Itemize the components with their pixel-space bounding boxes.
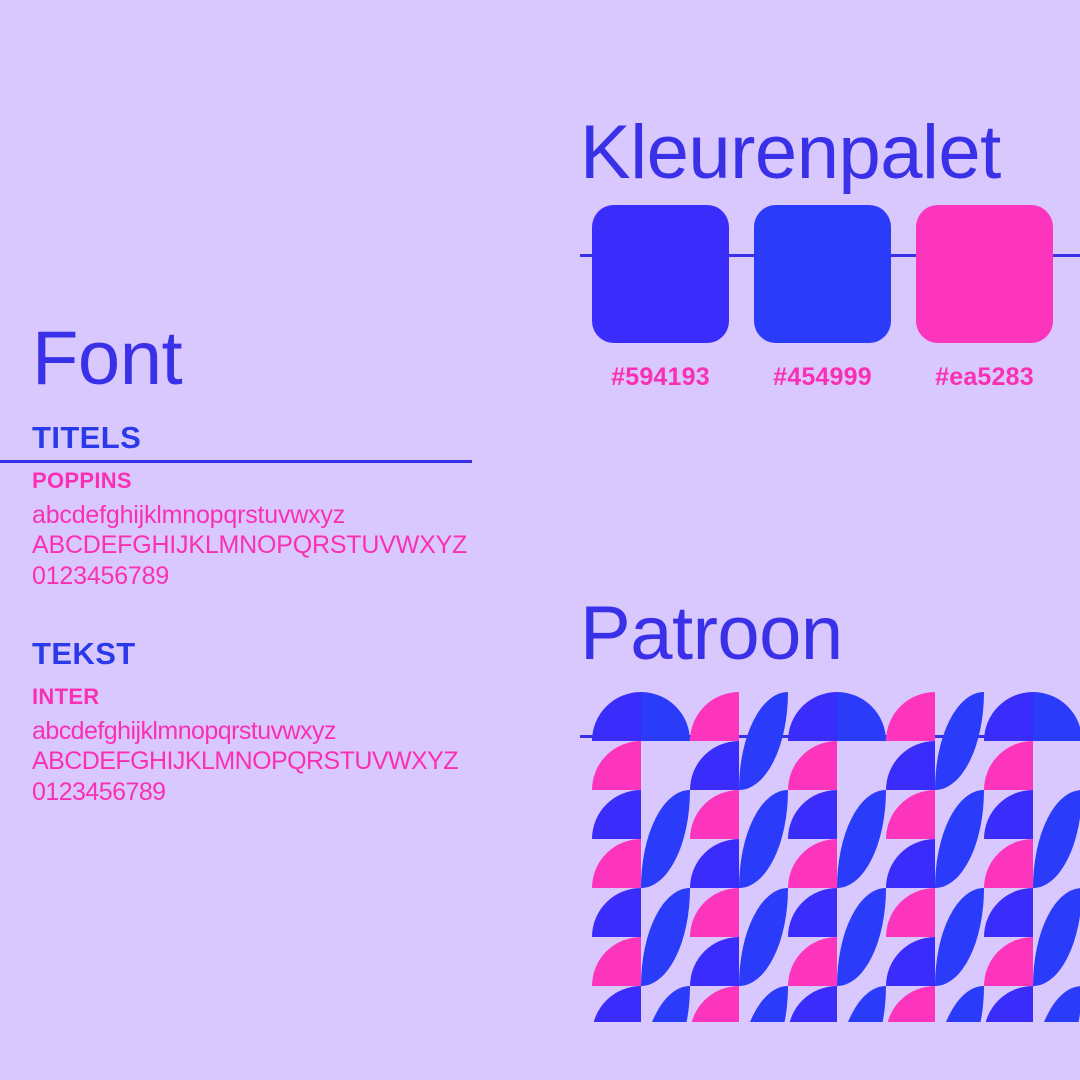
pattern-leaf (739, 790, 788, 888)
pattern-quarter-circle (788, 937, 837, 986)
specimen-lowercase: abcdefghijklmnopqrstuvwxyz (32, 716, 492, 747)
pattern-quarter-circle (984, 888, 1033, 937)
pattern-quarter-circle (1033, 692, 1080, 741)
pattern-grid (592, 692, 1080, 1022)
pattern-leaf (1033, 888, 1080, 986)
pattern-leaf (739, 986, 788, 1022)
pattern-leaf (935, 790, 984, 888)
color-swatch-item[interactable]: #ea5283 (916, 205, 1053, 392)
pattern-quarter-circle (886, 741, 935, 790)
type-font-name: POPPINS (32, 469, 492, 492)
color-swatch-item[interactable]: #454999 (754, 205, 891, 392)
pattern-leaf (837, 986, 886, 1022)
pattern-quarter-circle (886, 839, 935, 888)
font-section-heading: Font (32, 321, 472, 397)
pattern-quarter-circle (984, 741, 1033, 790)
pattern-leaf (641, 986, 690, 1022)
style-guide-canvas: Font TITELS POPPINS abcdefghijklmnopqrst… (0, 0, 1080, 1080)
pattern-quarter-circle (592, 692, 641, 741)
pattern-leaf (935, 692, 984, 790)
pattern-leaf (1033, 790, 1080, 888)
color-swatch-chip[interactable] (754, 205, 891, 343)
pattern-quarter-circle (592, 986, 641, 1022)
color-swatch-hex-label: #ea5283 (916, 363, 1053, 392)
type-block-titels: TITELS POPPINS abcdefghijklmnopqrstuvwxy… (32, 422, 492, 591)
specimen-digits: 0123456789 (32, 777, 492, 808)
pattern-quarter-circle (984, 692, 1033, 741)
pattern-leaf (739, 692, 788, 790)
pattern-leaf (935, 888, 984, 986)
pattern-leaf (1033, 986, 1080, 1022)
pattern-section-heading: Patroon (580, 596, 1080, 672)
pattern-leaf (837, 790, 886, 888)
pattern-quarter-circle (788, 790, 837, 839)
pattern-quarter-circle (837, 692, 886, 741)
pattern-quarter-circle (886, 937, 935, 986)
pattern-leaf (935, 986, 984, 1022)
color-swatch-chip[interactable] (592, 205, 729, 343)
color-swatch-row: #594193 #454999 #ea5283 (592, 205, 1053, 392)
pattern-quarter-circle (592, 839, 641, 888)
specimen-lowercase: abcdefghijklmnopqrstuvwxyz (32, 500, 492, 531)
color-swatch-chip[interactable] (916, 205, 1053, 343)
specimen-uppercase: ABCDEFGHIJKLMNOPQRSTUVWXYZ (32, 530, 492, 561)
type-font-name: INTER (32, 685, 492, 708)
color-swatch-hex-label: #454999 (754, 363, 891, 392)
pattern-quarter-circle (984, 790, 1033, 839)
pattern-leaf (641, 888, 690, 986)
pattern-quarter-circle (690, 741, 739, 790)
pattern-leaf (837, 888, 886, 986)
pattern-quarter-circle (690, 839, 739, 888)
pattern-quarter-circle (886, 888, 935, 937)
pattern-quarter-circle (641, 692, 690, 741)
pattern-quarter-circle (886, 692, 935, 741)
pattern-quarter-circle (788, 986, 837, 1022)
pattern-leaf (739, 888, 788, 986)
pattern-quarter-circle (592, 888, 641, 937)
color-swatch-item[interactable]: #594193 (592, 205, 729, 392)
pattern-quarter-circle (788, 741, 837, 790)
pattern-quarter-circle (788, 888, 837, 937)
pattern-quarter-circle (886, 790, 935, 839)
palette-section-heading: Kleurenpalet (580, 115, 1080, 191)
pattern-quarter-circle (592, 790, 641, 839)
specimen-digits: 0123456789 (32, 561, 492, 592)
pattern-quarter-circle (788, 692, 837, 741)
specimen-uppercase: ABCDEFGHIJKLMNOPQRSTUVWXYZ (32, 746, 492, 777)
pattern-quarter-circle (886, 986, 935, 1022)
pattern-quarter-circle (592, 937, 641, 986)
color-swatch-hex-label: #594193 (592, 363, 729, 392)
pattern-quarter-circle (984, 937, 1033, 986)
type-category-label: TEKST (32, 638, 492, 671)
pattern-quarter-circle (690, 790, 739, 839)
pattern-quarter-circle (592, 741, 641, 790)
pattern-quarter-circle (690, 986, 739, 1022)
pattern-quarter-circle (690, 937, 739, 986)
pattern-swatch-preview (592, 692, 1080, 1022)
pattern-quarter-circle (788, 839, 837, 888)
type-category-label: TITELS (32, 422, 492, 455)
pattern-quarter-circle (984, 986, 1033, 1022)
type-block-tekst: TEKST INTER abcdefghijklmnopqrstuvwxyz A… (32, 638, 492, 807)
pattern-quarter-circle (690, 692, 739, 741)
pattern-quarter-circle (690, 888, 739, 937)
pattern-quarter-circle (984, 839, 1033, 888)
pattern-leaf (641, 790, 690, 888)
